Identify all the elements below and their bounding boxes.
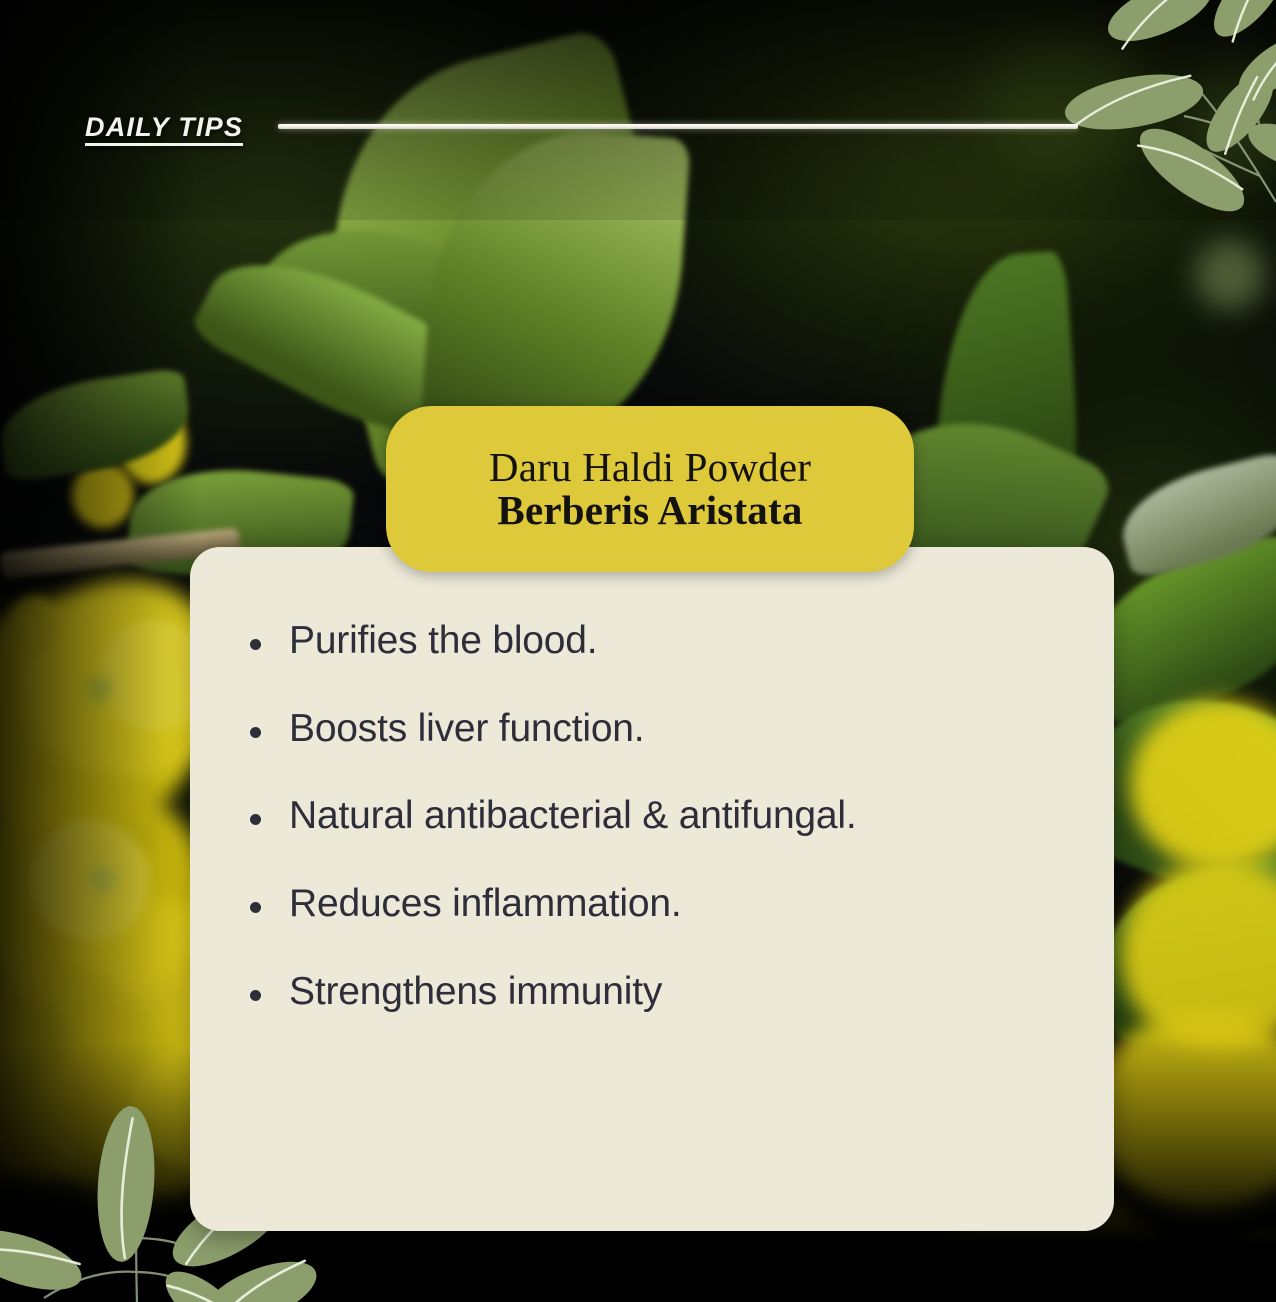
header: DAILY TIPS	[0, 0, 1276, 170]
list-item: Strengthens immunity	[250, 970, 1074, 1014]
list-item-label: Boosts liver function.	[289, 707, 1074, 751]
title-text: Daru Haldi Powder Berberis Aristata	[463, 446, 837, 533]
bullet-icon	[250, 814, 261, 825]
list-item: Boosts liver function.	[250, 707, 1074, 751]
title-card: Daru Haldi Powder Berberis Aristata	[386, 406, 914, 572]
title-line-common-name: Daru Haldi Powder	[489, 446, 811, 489]
bullet-icon	[250, 727, 261, 738]
list-item-label: Strengthens immunity	[289, 970, 1074, 1014]
benefits-list: Purifies the blood. Boosts liver functio…	[250, 619, 1074, 1013]
list-item-label: Reduces inflammation.	[289, 882, 1074, 926]
list-item-label: Purifies the blood.	[289, 619, 1074, 663]
list-item-label: Natural antibacterial & antifungal.	[289, 794, 1074, 838]
photo-bokeh	[1195, 240, 1265, 310]
daily-tips-label: DAILY TIPS	[85, 112, 243, 143]
bullet-icon	[250, 902, 261, 913]
bullet-icon	[250, 990, 261, 1001]
list-item: Reduces inflammation.	[250, 882, 1074, 926]
list-item: Purifies the blood.	[250, 619, 1074, 663]
benefits-card: Purifies the blood. Boosts liver functio…	[190, 547, 1114, 1231]
poster-canvas: DAILY TIPS Daru Haldi Powder Berberis Ar…	[0, 0, 1276, 1302]
header-divider-line	[278, 124, 1078, 129]
title-line-botanical-name: Berberis Aristata	[489, 489, 811, 532]
list-item: Natural antibacterial & antifungal.	[250, 794, 1074, 838]
bullet-icon	[250, 639, 261, 650]
